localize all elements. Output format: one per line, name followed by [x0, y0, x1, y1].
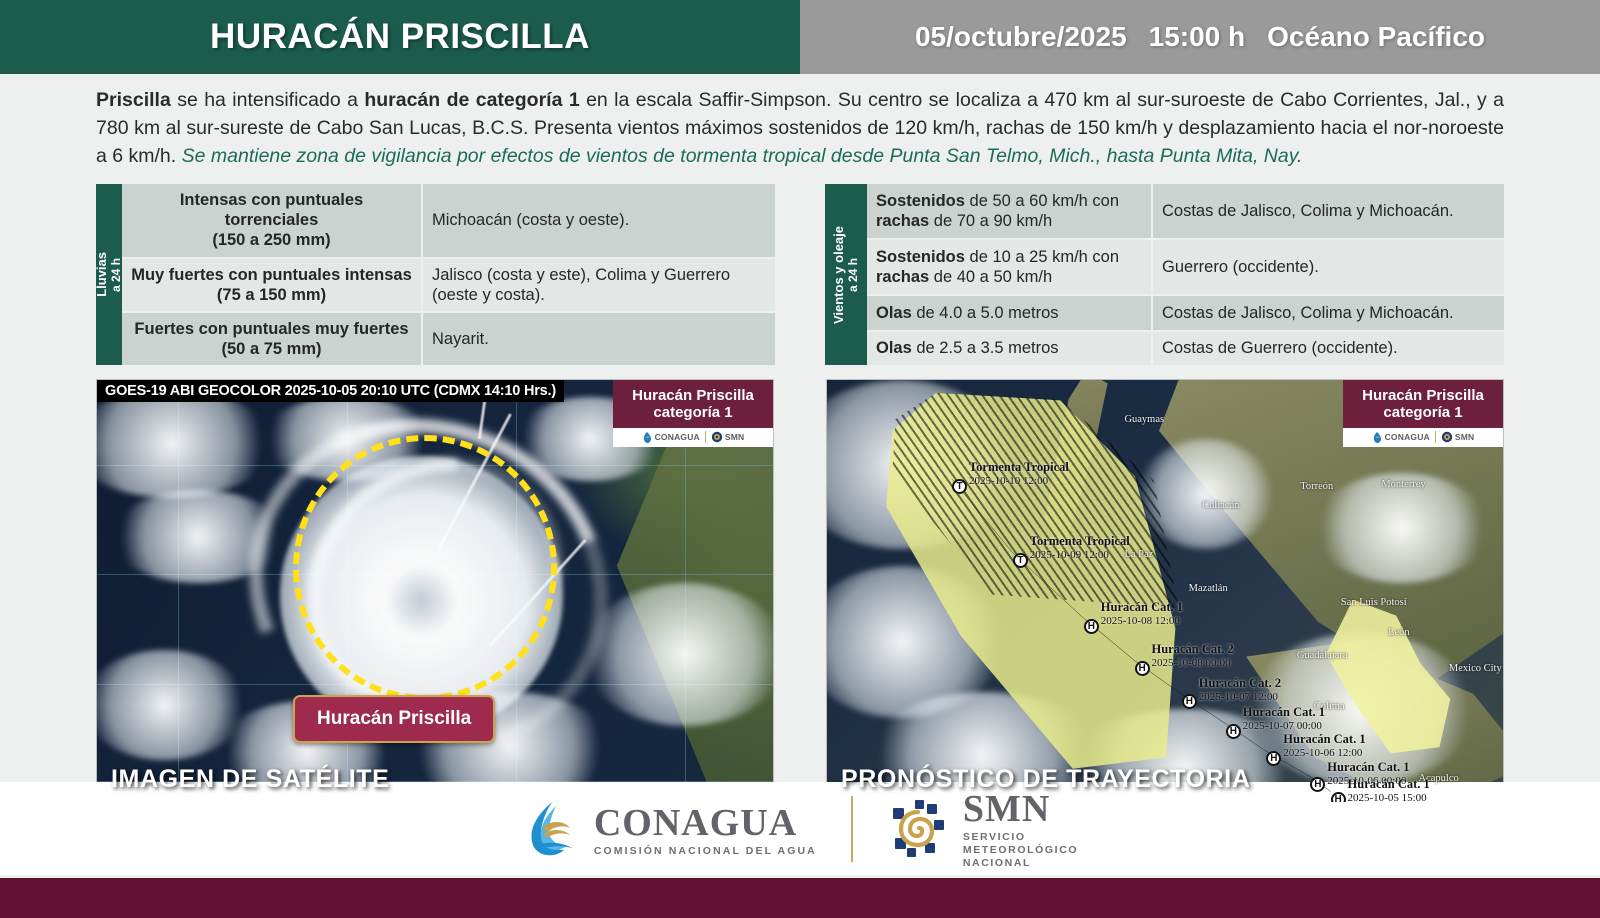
- summary-text-2: se ha intensificado a: [171, 89, 365, 111]
- logo-divider: [705, 431, 706, 443]
- table-row: Muy fuertes con puntuales intensas (75 a…: [122, 258, 775, 312]
- badge-storm-name: Huracán Priscilla: [617, 387, 769, 404]
- summary-storm-name: Priscilla: [96, 89, 171, 111]
- conagua-logo-text: CONAGUA COMISIÓN NACIONAL DEL AGUA: [594, 801, 817, 857]
- rain-intensity-0: Intensas con puntuales torrenciales: [180, 191, 363, 229]
- city-label: Mexico City: [1449, 663, 1502, 674]
- table-row: Olas de 4.0 a 5.0 metros Costas de Jalis…: [867, 295, 1504, 330]
- logo-divider: [1435, 431, 1436, 443]
- smn-mini-logo: SMN: [711, 431, 745, 443]
- smn-mini-label: SMN: [1455, 432, 1475, 442]
- track-point-name: Huracán Cat. 1: [1348, 777, 1430, 792]
- header-basin: Océano Pacífico: [1267, 21, 1485, 53]
- tables-row: Lluvias a 24 h Intensas con puntuales to…: [96, 184, 1504, 365]
- wind-table-side-label: Vientos y oleaje a 24 h: [825, 184, 867, 365]
- conagua-mini-logo: CONAGUA: [1372, 431, 1430, 444]
- rain-intensity-cell: Intensas con puntuales torrenciales (150…: [122, 184, 422, 257]
- rain-areas-0: Michoacán (costa y oeste).: [422, 184, 775, 257]
- page-title: HURACÁN PRISCILLA: [210, 17, 590, 57]
- rain-range-0: (150 a 250 mm): [212, 231, 330, 249]
- track-point-name: Tormenta Tropical: [969, 460, 1069, 475]
- track-point-label: Tormenta Tropical2025-10-10 12:00: [969, 460, 1069, 487]
- track-point-datetime: 2025-10-08 00:00: [1151, 657, 1233, 669]
- wind-t1-3: de 2.5 a 3.5 metros: [912, 339, 1059, 357]
- track-point-marker: H: [1226, 724, 1241, 739]
- track-point-label: Huracán Cat. 12025-10-05 15:00: [1348, 777, 1430, 803]
- summary-watch-text: Se mantiene zona de vigilancia por efect…: [182, 145, 1303, 167]
- track-point-datetime: 2025-10-06 12:00: [1283, 747, 1365, 759]
- wind-b1-0: Sostenidos: [876, 192, 965, 210]
- satellite-source-bar: GOES-19 ABI GEOCOLOR 2025-10-05 20:10 UT…: [97, 380, 564, 402]
- wind-t2-1: de 40 a 50 km/h: [929, 268, 1052, 286]
- track-point-name: Huracán Cat. 2: [1151, 642, 1233, 657]
- wind-areas-1: Guerrero (occidente).: [1152, 239, 1504, 295]
- storm-highlight-ellipse: [293, 435, 557, 701]
- smn-sub-2: METEOROLÓGICO: [963, 844, 1078, 857]
- track-point-name: Huracán Cat. 2: [1199, 676, 1281, 691]
- badge-text-block: Huracán Priscilla categoría 1: [1343, 380, 1503, 428]
- rain-range-2: (50 a 75 mm): [222, 340, 322, 358]
- track-point-datetime: 2025-10-05 15:00: [1348, 792, 1430, 803]
- table-row: Fuertes con puntuales muy fuertes (50 a …: [122, 312, 775, 365]
- badge-category: categoría 1: [617, 404, 769, 421]
- track-point-marker: H: [1331, 792, 1346, 804]
- track-point-name: Huracán Cat. 1: [1283, 732, 1365, 747]
- wind-desc-cell: Sostenidos de 10 a 25 km/h con rachas de…: [867, 239, 1152, 295]
- forecast-track-panel[interactable]: Huracán Priscilla categoría 1 CONAGUA: [826, 379, 1504, 803]
- conagua-mini-label: CONAGUA: [1385, 432, 1430, 442]
- track-point-datetime: 2025-10-10 12:00: [969, 475, 1069, 487]
- track-point-label: Huracán Cat. 22025-10-07 12:00: [1199, 676, 1281, 703]
- wind-b2-1: rachas: [876, 268, 929, 286]
- satellite-panel[interactable]: GOES-19 ABI GEOCOLOR 2025-10-05 20:10 UT…: [96, 379, 774, 803]
- summary-paragraph: Priscilla se ha intensificado a huracán …: [96, 86, 1504, 170]
- track-point-name: Huracán Cat. 1: [1327, 760, 1409, 775]
- wind-t1-1: de 10 a 25 km/h con: [965, 248, 1119, 266]
- badge-logo-strip: CONAGUA SMN: [1343, 428, 1503, 447]
- forecast-panel-caption: PRONÓSTICO DE TRAYECTORIA: [841, 765, 1251, 794]
- wind-t2-0: de 70 a 90 km/h: [929, 212, 1052, 230]
- track-point-marker: H: [1084, 619, 1099, 634]
- forecast-category-badge: Huracán Priscilla categoría 1 CONAGUA: [1343, 380, 1503, 447]
- track-point-marker: T: [1013, 553, 1028, 568]
- rain-intensity-cell: Fuertes con puntuales muy fuertes (50 a …: [122, 312, 422, 365]
- imagery-panels: GOES-19 ABI GEOCOLOR 2025-10-05 20:10 UT…: [96, 379, 1504, 803]
- wind-desc-cell: Sostenidos de 50 a 60 km/h con rachas de…: [867, 184, 1152, 239]
- badge-logo-strip: CONAGUA SMN: [613, 428, 773, 447]
- wind-t1-0: de 50 a 60 km/h con: [965, 192, 1119, 210]
- table-row: Olas de 2.5 a 3.5 metros Costas de Guerr…: [867, 331, 1504, 365]
- infographic-page: HURACÁN PRISCILLA 05/octubre/2025 15:00 …: [0, 0, 1600, 918]
- wind-b1-1: Sostenidos: [876, 248, 965, 266]
- wind-b1-3: Olas: [876, 339, 912, 357]
- spiral-glyph-icon: [1441, 431, 1453, 443]
- badge-storm-name: Huracán Priscilla: [1347, 387, 1499, 404]
- satellite-panel-caption: IMAGEN DE SATÉLITE: [111, 765, 389, 794]
- smn-subtitle: SERVICIO METEOROLÓGICO NACIONAL: [963, 831, 1078, 870]
- rain-range-1: (75 a 150 mm): [217, 286, 326, 304]
- wind-areas-0: Costas de Jalisco, Colima y Michoacán.: [1152, 184, 1504, 239]
- track-point-datetime: 2025-10-07 00:00: [1243, 720, 1325, 732]
- wind-table: Sostenidos de 50 a 60 km/h con rachas de…: [867, 184, 1504, 365]
- track-point-datetime: 2025-10-09 12:00: [1030, 549, 1130, 561]
- wind-areas-2: Costas de Jalisco, Colima y Michoacán.: [1152, 295, 1504, 330]
- satellite-category-badge: Huracán Priscilla categoría 1 CONAGUA: [613, 380, 773, 447]
- rain-table-wrapper: Lluvias a 24 h Intensas con puntuales to…: [96, 184, 775, 365]
- conagua-name: CONAGUA: [594, 801, 817, 845]
- table-row: Sostenidos de 10 a 25 km/h con rachas de…: [867, 239, 1504, 295]
- badge-text-block: Huracán Priscilla categoría 1: [613, 380, 773, 428]
- track-point-name: Tormenta Tropical: [1030, 534, 1130, 549]
- rain-label-line1: Lluvias: [94, 252, 109, 297]
- track-point-label: Huracán Cat. 12025-10-07 00:00: [1243, 705, 1325, 732]
- wind-areas-3: Costas de Guerrero (occidente).: [1152, 331, 1504, 365]
- table-row: Sostenidos de 50 a 60 km/h con rachas de…: [867, 184, 1504, 239]
- footer-divider: [851, 796, 853, 862]
- city-label: Culiacán: [1202, 500, 1239, 511]
- rain-intensity-1: Muy fuertes con puntuales intensas: [131, 266, 412, 284]
- header-date: 05/octubre/2025: [915, 21, 1127, 53]
- storm-name-callout: Huracán Priscilla: [293, 695, 495, 743]
- city-label: Torreón: [1300, 481, 1333, 492]
- rain-table: Intensas con puntuales torrenciales (150…: [122, 184, 775, 365]
- header-bar: HURACÁN PRISCILLA 05/octubre/2025 15:00 …: [0, 0, 1600, 74]
- smn-mini-logo: SMN: [1441, 431, 1475, 443]
- wind-label-line2: a 24 h: [846, 258, 860, 292]
- city-label: Monterrey: [1381, 479, 1425, 490]
- water-drop-icon: [642, 431, 653, 444]
- city-label: San Luis Potosí: [1341, 597, 1407, 608]
- rain-intensity-cell: Muy fuertes con puntuales intensas (75 a…: [122, 258, 422, 312]
- wind-table-wrapper: Vientos y oleaje a 24 h Sostenidos de 50…: [825, 184, 1504, 365]
- wind-label-line1: Vientos y oleaje: [831, 226, 846, 324]
- header-meta-block: 05/octubre/2025 15:00 h Océano Pacífico: [800, 0, 1600, 74]
- header-title-block: HURACÁN PRISCILLA: [0, 0, 800, 74]
- track-point-label: Tormenta Tropical2025-10-09 12:00: [1030, 534, 1130, 561]
- conagua-water-drop-icon: [522, 798, 580, 860]
- wind-desc-cell: Olas de 4.0 a 5.0 metros: [867, 295, 1152, 330]
- badge-category: categoría 1: [1347, 404, 1499, 421]
- conagua-mini-label: CONAGUA: [655, 432, 700, 442]
- bottom-accent-strip: [0, 878, 1600, 918]
- track-point-name: Huracán Cat. 1: [1101, 600, 1183, 615]
- summary-category: huracán de categoría 1: [364, 89, 579, 111]
- wind-b1-2: Olas: [876, 304, 912, 322]
- rain-intensity-2: Fuertes con puntuales muy fuertes: [134, 320, 408, 338]
- spiral-glyph-icon: [711, 431, 723, 443]
- track-point-label: Huracán Cat. 12025-10-08 12:00: [1101, 600, 1183, 627]
- city-label: Guadalajara: [1297, 650, 1348, 661]
- track-point-datetime: 2025-10-08 12:00: [1101, 615, 1183, 627]
- smn-aztec-spiral-icon: [887, 798, 949, 860]
- conagua-mini-logo: CONAGUA: [642, 431, 700, 444]
- city-label: Guaymas: [1124, 414, 1164, 425]
- cloud-mass: [584, 583, 774, 726]
- header-time: 15:00 h: [1149, 21, 1246, 53]
- rain-label-line2: a 24 h: [109, 258, 123, 292]
- smn-sub-1: SERVICIO: [963, 831, 1078, 844]
- city-label: Mazatlán: [1189, 583, 1228, 594]
- table-row: Intensas con puntuales torrenciales (150…: [122, 184, 775, 257]
- water-drop-icon: [1372, 431, 1383, 444]
- rain-table-side-label: Lluvias a 24 h: [96, 184, 122, 365]
- smn-sub-3: NACIONAL: [963, 857, 1078, 870]
- wind-desc-cell: Olas de 2.5 a 3.5 metros: [867, 331, 1152, 365]
- wind-b2-0: rachas: [876, 212, 929, 230]
- track-point-name: Huracán Cat. 1: [1243, 705, 1325, 720]
- track-point-marker: H: [1135, 661, 1150, 676]
- rain-areas-1: Jalisco (costa y este), Colima y Guerrer…: [422, 258, 775, 312]
- smn-mini-label: SMN: [725, 432, 745, 442]
- rain-areas-2: Nayarit.: [422, 312, 775, 365]
- track-point-label: Huracán Cat. 22025-10-08 00:00: [1151, 642, 1233, 669]
- city-label: León: [1388, 627, 1410, 638]
- wind-t1-2: de 4.0 a 5.0 metros: [912, 304, 1059, 322]
- track-point-label: Huracán Cat. 12025-10-06 12:00: [1283, 732, 1365, 759]
- track-point-datetime: 2025-10-07 12:00: [1199, 691, 1281, 703]
- conagua-logo: CONAGUA COMISIÓN NACIONAL DEL AGUA: [522, 798, 817, 860]
- conagua-subtitle: COMISIÓN NACIONAL DEL AGUA: [594, 845, 817, 857]
